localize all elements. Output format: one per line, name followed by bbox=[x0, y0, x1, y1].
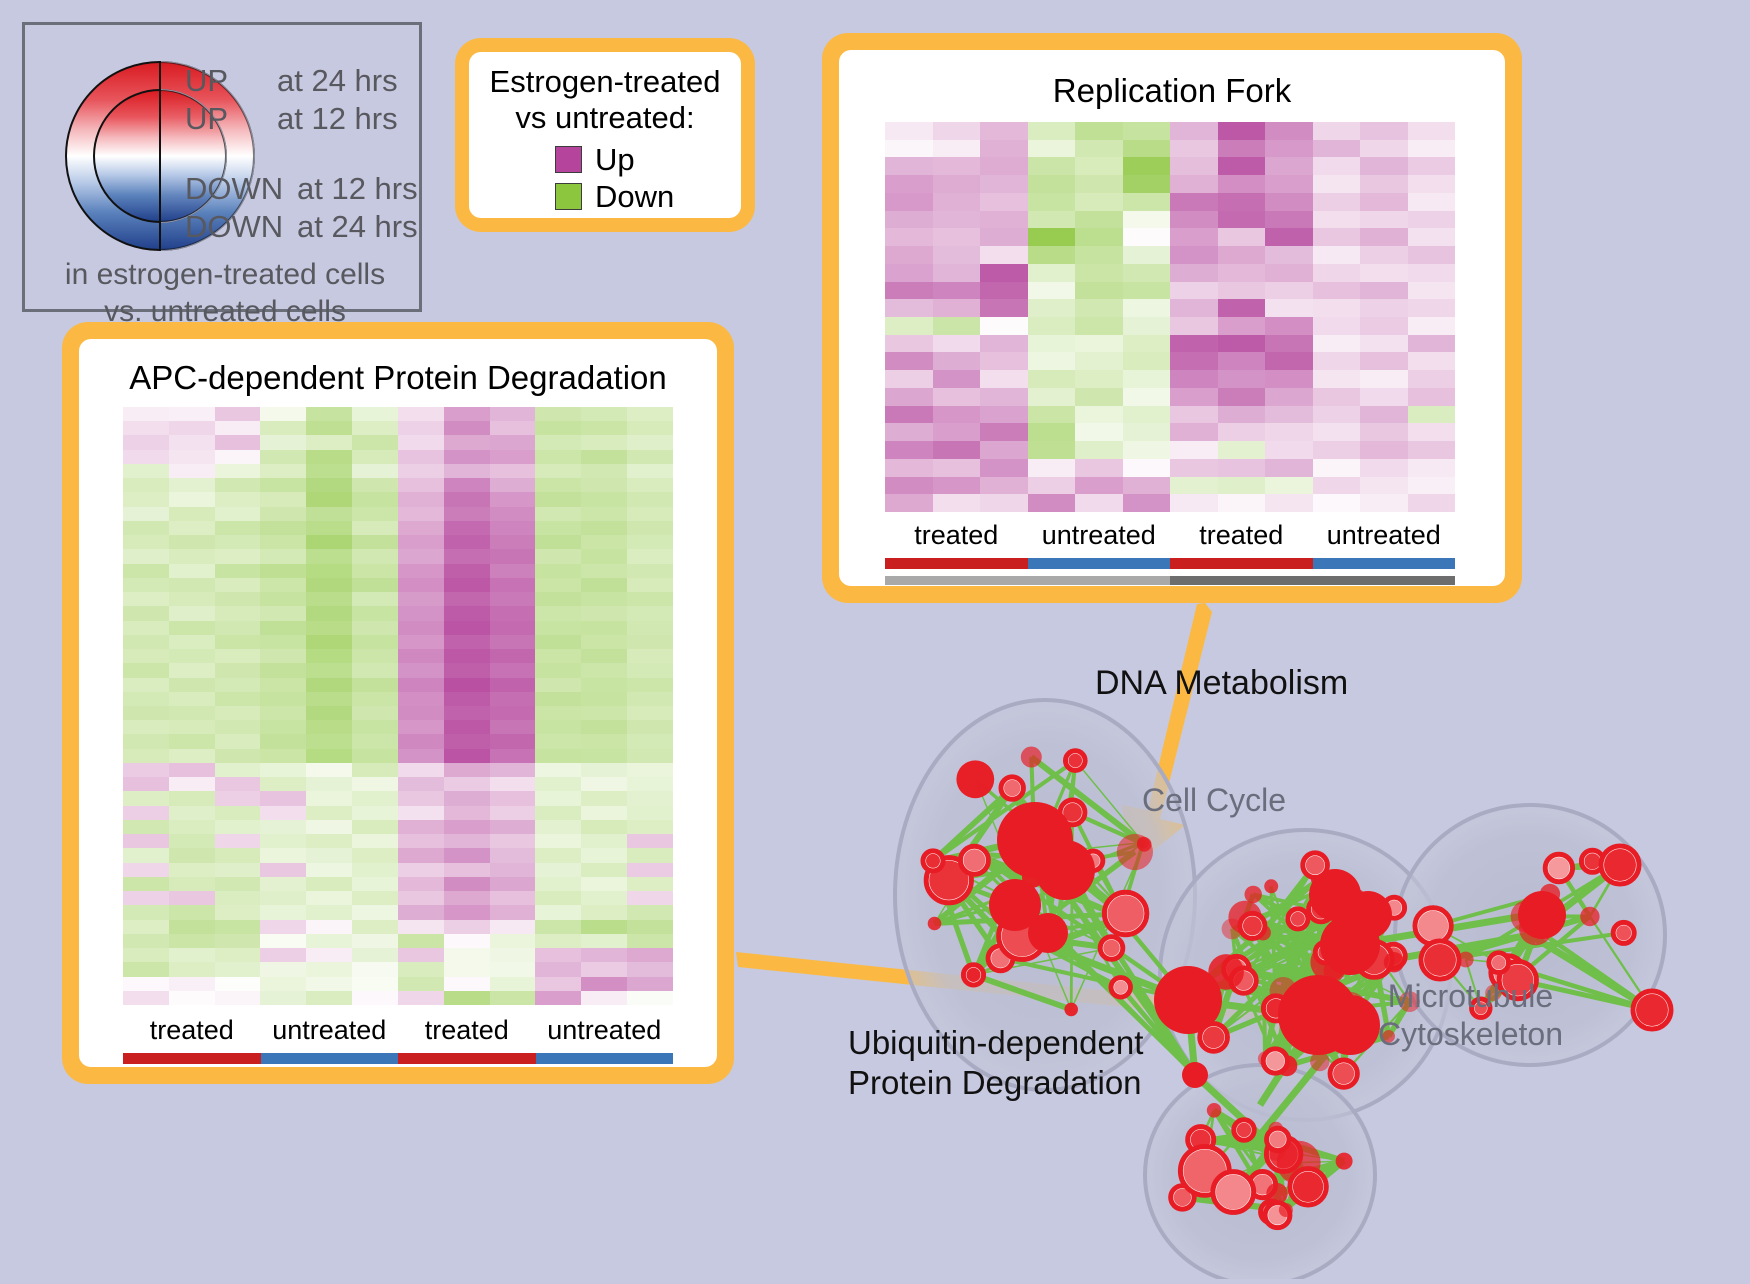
heatmap-cell bbox=[535, 621, 581, 635]
heatmap-cell bbox=[398, 706, 444, 720]
heatmap-cell bbox=[306, 777, 352, 791]
heatmap-cell bbox=[885, 264, 933, 282]
network-node[interactable] bbox=[1290, 1169, 1326, 1205]
network-node[interactable] bbox=[1035, 840, 1095, 900]
heatmap-cell bbox=[123, 834, 169, 848]
heatmap-cell bbox=[169, 905, 215, 919]
network-node[interactable] bbox=[1336, 1153, 1353, 1170]
node-core bbox=[1492, 956, 1506, 970]
heatmap-cell bbox=[352, 734, 398, 748]
heatmap-cell bbox=[627, 948, 673, 962]
network-node[interactable] bbox=[1580, 907, 1599, 926]
heatmap-cell bbox=[1265, 352, 1313, 370]
heatmap-cell bbox=[980, 282, 1028, 300]
key-swatch-up bbox=[555, 146, 582, 173]
heatmap-cell bbox=[885, 317, 933, 335]
network-node[interactable] bbox=[1279, 1203, 1293, 1217]
heatmap-cell bbox=[215, 592, 261, 606]
network-node[interactable] bbox=[1137, 837, 1152, 852]
network-node[interactable] bbox=[1111, 978, 1130, 997]
node-core bbox=[1182, 1062, 1208, 1088]
heatmap-cell bbox=[885, 193, 933, 211]
heatmap-cell bbox=[260, 407, 306, 421]
heatmap-cell bbox=[169, 407, 215, 421]
heatmap-cell bbox=[398, 663, 444, 677]
heatmap-cell bbox=[1075, 211, 1123, 229]
heatmap-cell bbox=[1408, 494, 1456, 512]
heatmap-cell bbox=[581, 863, 627, 877]
heatmap-cell bbox=[1313, 317, 1361, 335]
heatmap-cell bbox=[980, 441, 1028, 459]
heatmap-cell bbox=[933, 441, 981, 459]
heatmap-cell bbox=[581, 649, 627, 663]
heatmap-cell bbox=[1313, 441, 1361, 459]
heatmap-cell bbox=[490, 791, 536, 805]
heatmap-cell bbox=[260, 934, 306, 948]
heatmap-cell bbox=[1075, 122, 1123, 140]
network-node[interactable] bbox=[923, 851, 943, 871]
network-node[interactable] bbox=[1601, 846, 1639, 884]
heatmap-cell bbox=[444, 564, 490, 578]
network-node[interactable] bbox=[1421, 941, 1459, 979]
up-down-key-panel: Estrogen-treated vs untreated: Up Down bbox=[455, 38, 755, 232]
heatmap-cell bbox=[306, 450, 352, 464]
heatmap-cell bbox=[260, 962, 306, 976]
heatmap-cell bbox=[123, 649, 169, 663]
heatmap-cell bbox=[1075, 228, 1123, 246]
heatmap-cell bbox=[885, 459, 933, 477]
heatmap-cell bbox=[306, 905, 352, 919]
heatmap-cell bbox=[169, 848, 215, 862]
heatmap-cell bbox=[1028, 459, 1076, 477]
heatmap-cell bbox=[1265, 477, 1313, 495]
node-core bbox=[1548, 857, 1569, 878]
heatmap-cell bbox=[123, 435, 169, 449]
heatmap-cell bbox=[352, 535, 398, 549]
heatmap-cell bbox=[1218, 264, 1266, 282]
heatmap-cell bbox=[123, 592, 169, 606]
heatmap-cell bbox=[1218, 370, 1266, 388]
network-node[interactable] bbox=[1267, 1128, 1289, 1150]
heatmap-cell bbox=[535, 706, 581, 720]
network-node[interactable] bbox=[1028, 913, 1068, 953]
network-diagram: DNA Metabolism Cell Cycle Microtubule Cy… bbox=[790, 615, 1750, 1279]
heatmap-cell bbox=[1218, 246, 1266, 264]
node-core bbox=[1320, 995, 1380, 1055]
network-node[interactable] bbox=[1234, 1120, 1254, 1140]
heatmap-cell bbox=[980, 246, 1028, 264]
network-node[interactable] bbox=[1518, 891, 1566, 939]
heatmap-cell bbox=[398, 621, 444, 635]
heatmap-cell bbox=[1028, 140, 1076, 158]
heatmap-cell bbox=[980, 335, 1028, 353]
heatmap-cell bbox=[1170, 370, 1218, 388]
heatmap-cell bbox=[352, 564, 398, 578]
cluster-label-microtubule: Microtubule Cytoskeleton bbox=[1378, 977, 1563, 1054]
heatmap-cell bbox=[215, 734, 261, 748]
network-node[interactable] bbox=[928, 917, 942, 931]
heatmap-cell bbox=[885, 282, 933, 300]
heatmap-cell bbox=[535, 920, 581, 934]
heatmap-cell bbox=[1313, 299, 1361, 317]
heatmap-cell bbox=[1075, 175, 1123, 193]
cluster-label-dna-metabolism: DNA Metabolism bbox=[1095, 663, 1348, 704]
heatmap-cell bbox=[306, 934, 352, 948]
heatmap-cell bbox=[444, 678, 490, 692]
heatmap-cell bbox=[490, 962, 536, 976]
heatmap-cell bbox=[215, 535, 261, 549]
heatmap-cell bbox=[490, 692, 536, 706]
heatmap-cell bbox=[306, 734, 352, 748]
node-core bbox=[1004, 780, 1020, 796]
heatmap-cell bbox=[490, 977, 536, 991]
apc-title: APC-dependent Protein Degradation bbox=[79, 359, 717, 397]
heatmap-cell bbox=[535, 734, 581, 748]
heatmap-cell bbox=[215, 407, 261, 421]
heatmap-cell bbox=[1028, 388, 1076, 406]
heatmap-cell bbox=[933, 477, 981, 495]
heatmap-cell bbox=[169, 962, 215, 976]
heatmap-cell bbox=[1313, 406, 1361, 424]
network-node[interactable] bbox=[1021, 747, 1042, 768]
network-node[interactable] bbox=[1264, 879, 1278, 893]
heatmap-cell bbox=[444, 635, 490, 649]
network-node[interactable] bbox=[1320, 915, 1380, 975]
heatmap-cell bbox=[885, 299, 933, 317]
heatmap-cell bbox=[980, 299, 1028, 317]
heatmap-cell bbox=[1408, 441, 1456, 459]
heatmap-cell bbox=[581, 678, 627, 692]
heatmap-cell bbox=[1170, 388, 1218, 406]
node-core bbox=[1279, 1203, 1293, 1217]
heatmap-cell bbox=[398, 834, 444, 848]
heatmap-cell bbox=[352, 749, 398, 763]
heatmap-cell bbox=[490, 649, 536, 663]
heatmap-cell bbox=[581, 806, 627, 820]
node-core bbox=[1384, 952, 1404, 972]
network-node[interactable] bbox=[1207, 1103, 1222, 1118]
node-core bbox=[966, 968, 980, 982]
node-core bbox=[1584, 853, 1600, 869]
heatmap-cell bbox=[535, 977, 581, 991]
heatmap-cell bbox=[260, 421, 306, 435]
heatmap-cell bbox=[1170, 246, 1218, 264]
replication-fork-group-labels: treateduntreatedtreateduntreated bbox=[885, 520, 1455, 551]
network-node[interactable] bbox=[960, 846, 988, 874]
heatmap-cell bbox=[535, 635, 581, 649]
heatmap-cell bbox=[215, 621, 261, 635]
heatmap-cell bbox=[1360, 370, 1408, 388]
heatmap-cell bbox=[123, 578, 169, 592]
heatmap-cell bbox=[535, 820, 581, 834]
heatmap-cell bbox=[581, 507, 627, 521]
heatmap-cell bbox=[581, 692, 627, 706]
heatmap-cell bbox=[444, 578, 490, 592]
network-node[interactable] bbox=[1320, 995, 1380, 1055]
heatmap-cell bbox=[1075, 388, 1123, 406]
heatmap-cell bbox=[260, 991, 306, 1005]
heatmap-cell bbox=[490, 564, 536, 578]
heatmap-cell bbox=[1075, 370, 1123, 388]
heatmap-cell bbox=[260, 905, 306, 919]
network-node[interactable] bbox=[1100, 937, 1123, 960]
heatmap-cell bbox=[581, 635, 627, 649]
heatmap-cell bbox=[169, 734, 215, 748]
heatmap-cell bbox=[260, 478, 306, 492]
network-node[interactable] bbox=[1240, 913, 1265, 938]
network-node[interactable] bbox=[1263, 1049, 1287, 1073]
network-node[interactable] bbox=[1384, 952, 1404, 972]
network-node[interactable] bbox=[963, 965, 983, 985]
heatmap-cell bbox=[627, 962, 673, 976]
heatmap-cell bbox=[627, 507, 673, 521]
heatmap-cell bbox=[1170, 317, 1218, 335]
network-node[interactable] bbox=[1330, 1060, 1357, 1087]
heatmap-cell bbox=[1218, 335, 1266, 353]
heatmap-cell bbox=[398, 948, 444, 962]
heatmap-cell bbox=[1170, 175, 1218, 193]
heatmap-cell bbox=[490, 991, 536, 1005]
heatmap-cell bbox=[260, 920, 306, 934]
heatmap-cell bbox=[1170, 494, 1218, 512]
heatmap-cell bbox=[215, 692, 261, 706]
heatmap-cell bbox=[306, 635, 352, 649]
network-node[interactable] bbox=[1633, 991, 1671, 1029]
heatmap-cell bbox=[933, 352, 981, 370]
heatmap-cell bbox=[123, 450, 169, 464]
heatmap-cell bbox=[215, 507, 261, 521]
heatmap-cell bbox=[1028, 494, 1076, 512]
heatmap-cell bbox=[535, 834, 581, 848]
heatmap-cell bbox=[535, 435, 581, 449]
network-node[interactable] bbox=[1064, 1003, 1078, 1017]
heatmap-cell bbox=[1075, 282, 1123, 300]
heatmap-cell bbox=[444, 521, 490, 535]
heatmap-cell bbox=[980, 157, 1028, 175]
heatmap-cell bbox=[260, 521, 306, 535]
wheel-caption-line1: in estrogen-treated cells bbox=[25, 257, 425, 294]
network-node[interactable] bbox=[1545, 854, 1572, 881]
node-core bbox=[956, 760, 994, 798]
heatmap-cell bbox=[490, 834, 536, 848]
heatmap-cell bbox=[535, 535, 581, 549]
heatmap-cell bbox=[535, 606, 581, 620]
heatmap-cell bbox=[123, 564, 169, 578]
heatmap-cell bbox=[444, 507, 490, 521]
network-node[interactable] bbox=[1182, 1062, 1208, 1088]
heatmap-cell bbox=[352, 720, 398, 734]
heatmap-cell bbox=[885, 157, 933, 175]
heatmap-cell bbox=[627, 564, 673, 578]
heatmap-cell bbox=[169, 720, 215, 734]
heatmap-cell bbox=[1360, 388, 1408, 406]
heatmap-cell bbox=[1265, 264, 1313, 282]
heatmap-cell bbox=[885, 494, 933, 512]
heatmap-cell bbox=[444, 962, 490, 976]
heatmap-cell bbox=[444, 692, 490, 706]
heatmap-cell bbox=[1265, 140, 1313, 158]
key-row-down: Down bbox=[555, 181, 674, 212]
network-node[interactable] bbox=[1613, 922, 1634, 943]
heatmap-cell bbox=[627, 749, 673, 763]
heatmap-cell bbox=[306, 834, 352, 848]
wheel-time-down-24: at 24 hrs bbox=[297, 209, 418, 245]
heatmap-cell bbox=[1313, 246, 1361, 264]
heatmap-cell bbox=[1360, 264, 1408, 282]
heatmap-cell bbox=[1313, 352, 1361, 370]
wheel-time-up-24: at 24 hrs bbox=[277, 63, 398, 99]
network-node[interactable] bbox=[1288, 909, 1308, 929]
heatmap-cell bbox=[260, 763, 306, 777]
network-node[interactable] bbox=[1213, 1172, 1254, 1213]
heatmap-cell bbox=[885, 388, 933, 406]
panel-replication-fork: Replication Fork treateduntreatedtreated… bbox=[822, 33, 1522, 603]
heatmap-cell bbox=[169, 663, 215, 677]
heatmap-cell bbox=[1360, 441, 1408, 459]
heatmap-cell bbox=[627, 734, 673, 748]
heatmap-cell bbox=[1218, 441, 1266, 459]
heatmap-cell bbox=[352, 621, 398, 635]
heatmap-cell bbox=[627, 578, 673, 592]
heatmap-cell bbox=[627, 521, 673, 535]
heatmap-cell bbox=[535, 863, 581, 877]
heatmap-cell bbox=[1075, 246, 1123, 264]
heatmap-cell bbox=[352, 663, 398, 677]
heatmap-cell bbox=[215, 578, 261, 592]
heatmap-cell bbox=[627, 920, 673, 934]
heatmap-cell bbox=[581, 877, 627, 891]
heatmap-cell bbox=[535, 450, 581, 464]
heatmap-cell bbox=[581, 962, 627, 976]
heatmap-cell bbox=[306, 492, 352, 506]
heatmap-cell bbox=[933, 335, 981, 353]
heatmap-cell bbox=[1360, 246, 1408, 264]
heatmap-cell bbox=[215, 834, 261, 848]
heatmap-cell bbox=[627, 791, 673, 805]
heatmap-cell bbox=[215, 848, 261, 862]
heatmap-cell bbox=[1028, 423, 1076, 441]
heatmap-cell bbox=[1218, 477, 1266, 495]
heatmap-cell bbox=[123, 478, 169, 492]
heatmap-cell bbox=[352, 578, 398, 592]
heatmap-cell bbox=[1028, 441, 1076, 459]
heatmap-cell bbox=[169, 977, 215, 991]
heatmap-cell bbox=[215, 706, 261, 720]
heatmap-cell bbox=[1028, 157, 1076, 175]
network-node[interactable] bbox=[1001, 777, 1023, 799]
network-node[interactable] bbox=[1415, 908, 1451, 944]
heatmap-cell bbox=[260, 606, 306, 620]
heatmap-cell bbox=[398, 649, 444, 663]
network-node[interactable] bbox=[1154, 966, 1222, 1034]
heatmap-cell bbox=[398, 877, 444, 891]
node-core bbox=[1107, 895, 1143, 931]
group-label: untreated bbox=[536, 1015, 674, 1046]
heatmap-cell bbox=[306, 791, 352, 805]
network-node[interactable] bbox=[1245, 886, 1262, 903]
heatmap-cell bbox=[123, 920, 169, 934]
heatmap-cell bbox=[490, 877, 536, 891]
heatmap-cell bbox=[306, 649, 352, 663]
heatmap-cell bbox=[535, 678, 581, 692]
heatmap-cell bbox=[306, 891, 352, 905]
heatmap-cell bbox=[581, 734, 627, 748]
heatmap-cell bbox=[260, 564, 306, 578]
node-core bbox=[1580, 907, 1599, 926]
heatmap-cell bbox=[215, 678, 261, 692]
node-core bbox=[1237, 1123, 1251, 1137]
heatmap-cell bbox=[444, 421, 490, 435]
heatmap-cell bbox=[398, 421, 444, 435]
group-label: treated bbox=[885, 520, 1028, 551]
heatmap-cell bbox=[535, 806, 581, 820]
network-node[interactable] bbox=[1104, 892, 1146, 934]
heatmap-cell bbox=[352, 863, 398, 877]
heatmap-cell bbox=[1123, 477, 1171, 495]
heatmap-cell bbox=[352, 948, 398, 962]
heatmap-cell bbox=[169, 535, 215, 549]
heatmap-cell bbox=[535, 507, 581, 521]
heatmap-cell bbox=[490, 478, 536, 492]
heatmap-cell bbox=[398, 635, 444, 649]
heatmap-cell bbox=[1313, 459, 1361, 477]
heatmap-cell bbox=[1028, 352, 1076, 370]
heatmap-cell bbox=[627, 720, 673, 734]
heatmap-cell bbox=[215, 663, 261, 677]
heatmap-cell bbox=[1170, 441, 1218, 459]
heatmap-cell bbox=[215, 763, 261, 777]
heatmap-cell bbox=[306, 848, 352, 862]
heatmap-cell bbox=[1313, 193, 1361, 211]
node-core bbox=[1064, 1003, 1078, 1017]
heatmap-cell bbox=[627, 706, 673, 720]
heatmap-cell bbox=[398, 720, 444, 734]
heatmap-cell bbox=[535, 991, 581, 1005]
wheel-label-down-24: DOWN bbox=[185, 209, 283, 245]
heatmap-cell bbox=[885, 335, 933, 353]
heatmap-cell bbox=[1075, 335, 1123, 353]
apc-heatmap bbox=[123, 407, 673, 1005]
heatmap-cell bbox=[1313, 477, 1361, 495]
network-node[interactable] bbox=[956, 760, 994, 798]
heatmap-cell bbox=[1360, 122, 1408, 140]
heatmap-cell bbox=[1265, 175, 1313, 193]
group-label: treated bbox=[123, 1015, 261, 1046]
heatmap-cell bbox=[1123, 228, 1171, 246]
heatmap-cell bbox=[215, 720, 261, 734]
heatmap-cell bbox=[627, 592, 673, 606]
heatmap-cell bbox=[933, 211, 981, 229]
heatmap-cell bbox=[444, 435, 490, 449]
heatmap-cell bbox=[1218, 423, 1266, 441]
heatmap-cell bbox=[1075, 140, 1123, 158]
network-node[interactable] bbox=[1066, 751, 1086, 771]
heatmap-cell bbox=[169, 635, 215, 649]
heatmap-cell bbox=[1218, 140, 1266, 158]
heatmap-cell bbox=[398, 564, 444, 578]
heatmap-cell bbox=[1028, 175, 1076, 193]
heatmap-cell bbox=[1075, 459, 1123, 477]
heatmap-cell bbox=[535, 421, 581, 435]
heatmap-cell bbox=[1075, 193, 1123, 211]
heatmap-cell bbox=[933, 423, 981, 441]
group-label: treated bbox=[1170, 520, 1313, 551]
heatmap-cell bbox=[123, 621, 169, 635]
heatmap-cell bbox=[398, 806, 444, 820]
network-node[interactable] bbox=[1489, 953, 1509, 973]
heatmap-cell bbox=[123, 991, 169, 1005]
heatmap-cell bbox=[490, 934, 536, 948]
